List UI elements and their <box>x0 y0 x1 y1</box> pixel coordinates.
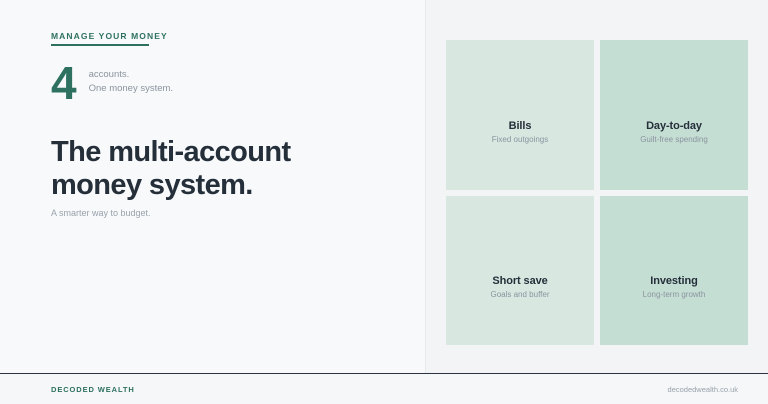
tile-title: Short save <box>492 275 547 287</box>
left-content-panel: MANAGE YOUR MONEY 4 accounts. One money … <box>0 0 425 373</box>
stat-number: 4 <box>51 60 76 106</box>
account-tile-grid: Bills Fixed outgoings Day-to-day Guilt-f… <box>446 40 748 345</box>
tile-title: Day-to-day <box>646 120 702 132</box>
footer-url: decodedwealth.co.uk <box>668 385 738 394</box>
stat-line-system: One money system. <box>89 82 173 96</box>
page-title: The multi-account money system. <box>51 136 381 202</box>
stat-lines: accounts. One money system. <box>89 68 173 96</box>
stat-block: 4 accounts. One money system. <box>51 62 173 106</box>
tile-investing[interactable]: Investing Long-term growth <box>600 196 748 346</box>
slide-canvas: MANAGE YOUR MONEY 4 accounts. One money … <box>0 0 768 403</box>
tile-subtitle: Goals and buffer <box>490 290 549 299</box>
tile-short-save[interactable]: Short save Goals and buffer <box>446 196 594 346</box>
tile-title: Investing <box>650 275 697 287</box>
tile-subtitle: Long-term growth <box>643 290 706 299</box>
tile-subtitle: Fixed outgoings <box>492 135 548 144</box>
tile-title: Bills <box>509 120 532 132</box>
page-subtitle: A smarter way to budget. <box>51 208 151 218</box>
eyebrow-label: MANAGE YOUR MONEY <box>51 31 168 41</box>
footer-brand: DECODED WEALTH <box>51 385 135 394</box>
slide-footer: DECODED WEALTH decodedwealth.co.uk <box>0 373 768 404</box>
tile-subtitle: Guilt-free spending <box>640 135 708 144</box>
stat-line-accounts: accounts. <box>89 68 173 82</box>
tile-bills[interactable]: Bills Fixed outgoings <box>446 40 594 190</box>
eyebrow-underline <box>51 44 149 46</box>
tile-day-to-day[interactable]: Day-to-day Guilt-free spending <box>600 40 748 190</box>
